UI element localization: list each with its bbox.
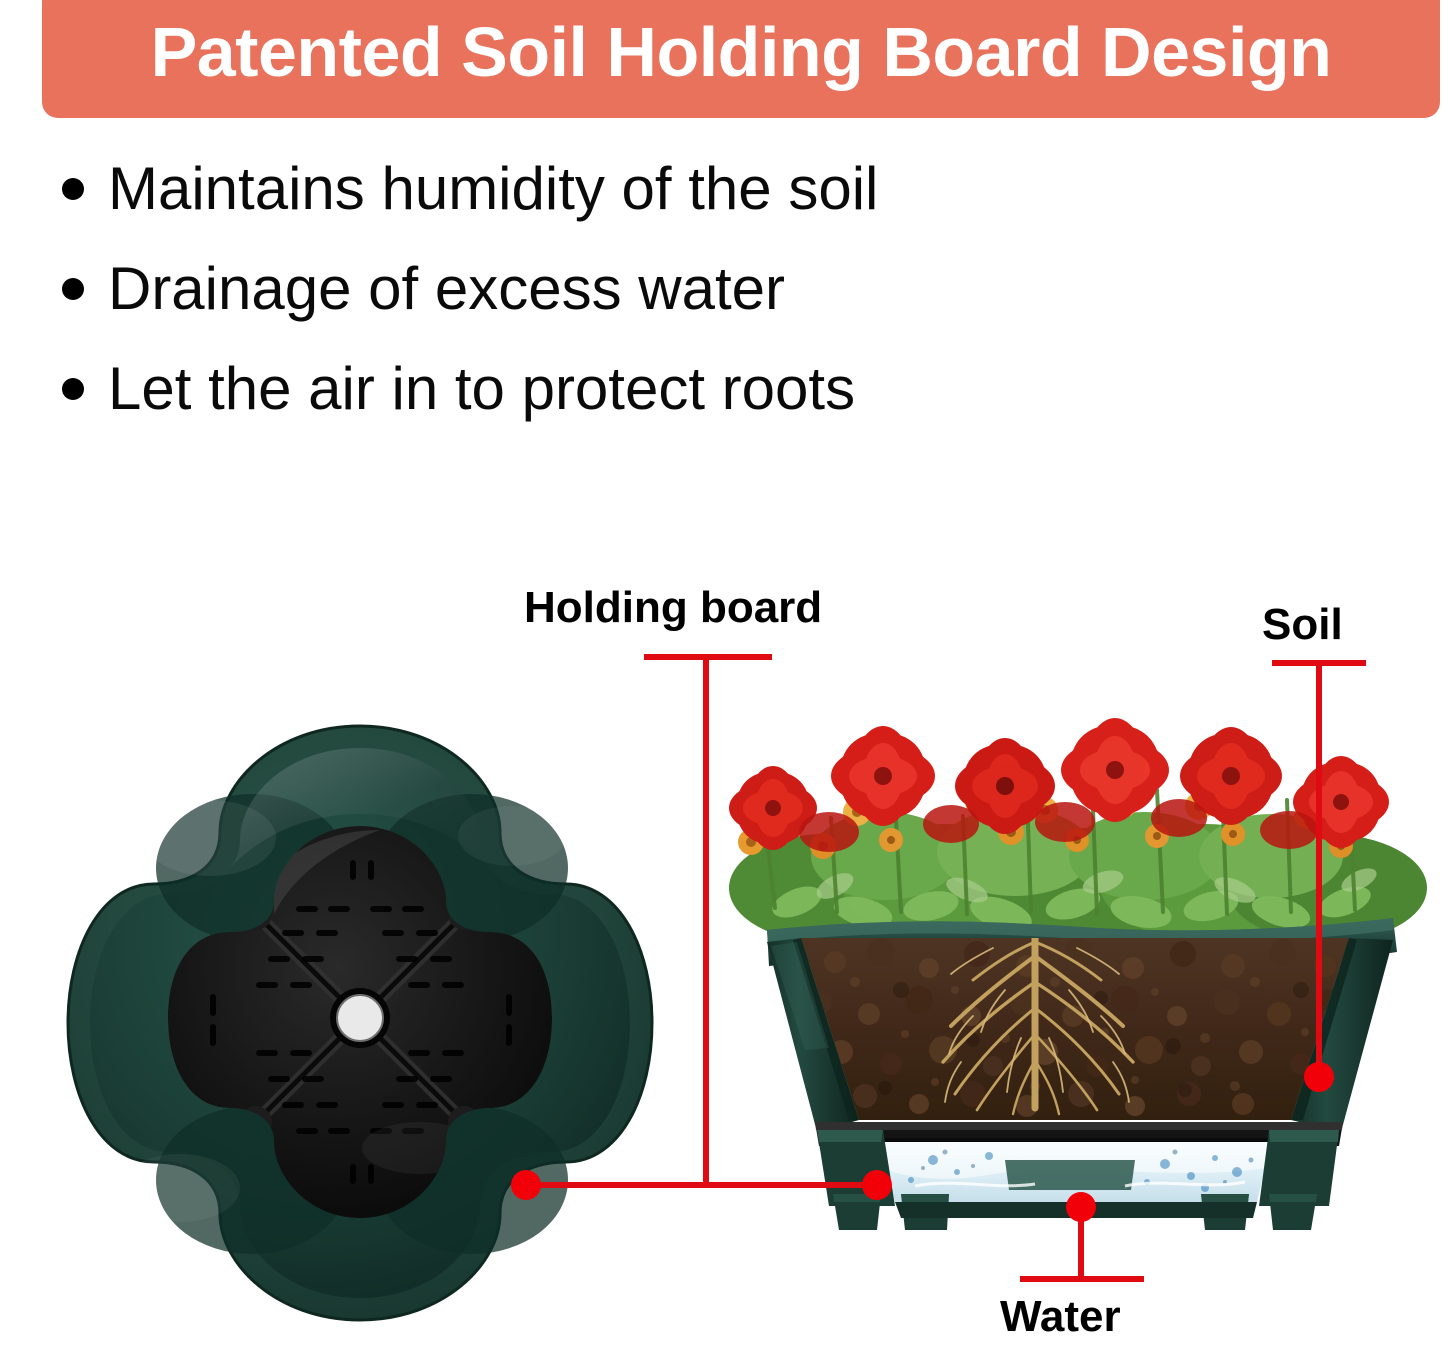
bullet-dot-icon [62,178,84,200]
soil-marker [1304,1062,1334,1092]
callout-label-soil: Soil [1262,600,1343,650]
quatrefoil-planter-image [60,718,660,1328]
water-connector-tbar [1020,1276,1144,1282]
feature-list: Maintains humidity of the soil Drainage … [62,150,1162,450]
list-item: Maintains humidity of the soil [62,150,1162,250]
list-item: Drainage of excess water [62,250,1162,350]
red-flowers [722,707,1397,859]
holding-board-connector-branch [527,1182,879,1188]
header-banner: Patented Soil Holding Board Design [42,0,1440,118]
feature-text: Maintains humidity of the soil [108,150,878,228]
holding-board-connector-stem [703,654,709,1188]
planter-cross-section-image [705,690,1445,1250]
callout-label-holding-board: Holding board [524,583,822,633]
drainage-hole-icon [330,988,390,1048]
page-title: Patented Soil Holding Board Design [151,17,1332,87]
feature-text: Let the air in to protect roots [108,350,855,428]
water-marker [1066,1192,1096,1222]
feature-text: Drainage of excess water [108,250,785,328]
holding-board-marker-right [862,1170,892,1200]
infographic-page: Patented Soil Holding Board Design Maint… [0,0,1445,1351]
bullet-dot-icon [62,378,84,400]
soil-connector-stem [1316,660,1322,1078]
callout-label-water: Water [1000,1292,1121,1342]
holding-board-marker-left [511,1170,541,1200]
bullet-dot-icon [62,278,84,300]
list-item: Let the air in to protect roots [62,350,1162,450]
soil-layer [801,930,1349,1120]
